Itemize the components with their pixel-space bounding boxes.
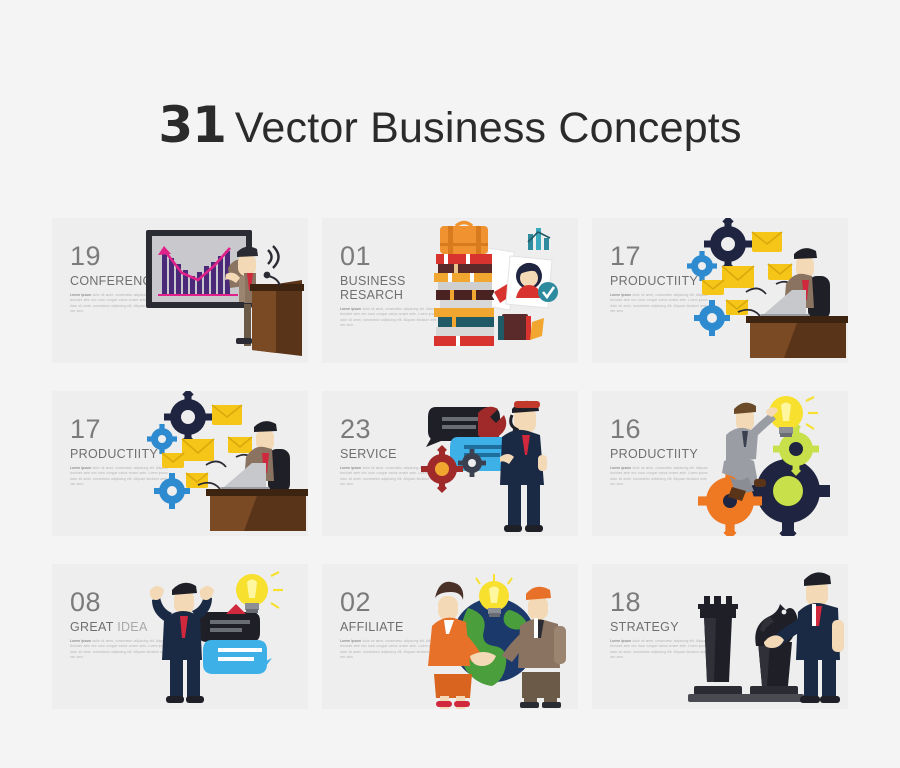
title-text: Vector Business Concepts bbox=[235, 104, 742, 152]
concept-card-service[interactable]: 23 SERVICE Lorem Ipsum dolor sit amet, c… bbox=[322, 391, 578, 536]
poster-page: 31Vector Business Concepts 19 CONFERENCE… bbox=[0, 0, 900, 768]
card-description-lead: Lorem Ipsum bbox=[70, 639, 91, 643]
illustration-conference bbox=[140, 218, 308, 363]
card-label-primary: SERVICE bbox=[340, 447, 397, 461]
concept-card-productivity-desk-b[interactable]: 17 PRODUCTIITY Lorem Ipsum dolor sit ame… bbox=[52, 391, 308, 536]
card-label-secondary: RESARCH bbox=[340, 288, 403, 302]
concept-card-affiliate[interactable]: 02 AFFILIATE Lorem Ipsum dolor sit amet,… bbox=[322, 564, 578, 709]
illustration-gear-climber bbox=[680, 391, 848, 536]
concept-card-strategy[interactable]: 18 STRATEGY Lorem Ipsum dolor sit amet, … bbox=[592, 564, 848, 709]
illustration-support-agent bbox=[410, 391, 578, 536]
concept-card-productivity-desk-a[interactable]: 17 PRODUCTIITY Lorem Ipsum dolor sit ame… bbox=[592, 218, 848, 363]
illustration-desk-worker-b bbox=[140, 391, 308, 536]
card-description-lead: Lorem Ipsum bbox=[610, 639, 631, 643]
card-description-lead: Lorem Ipsum bbox=[70, 293, 91, 297]
card-label-primary: AFFILIATE bbox=[340, 620, 404, 634]
concept-card-great-idea[interactable]: 08 GREAT IDEA Lorem Ipsum dolor sit amet… bbox=[52, 564, 308, 709]
title-count: 31 bbox=[158, 96, 226, 154]
card-label-primary: GREAT bbox=[70, 620, 113, 634]
card-description-lead: Lorem Ipsum bbox=[340, 307, 361, 311]
card-description-lead: Lorem Ipsum bbox=[70, 466, 91, 470]
illustration-idea-man bbox=[140, 564, 308, 709]
illustration-books bbox=[410, 218, 578, 363]
card-description-lead: Lorem Ipsum bbox=[610, 466, 631, 470]
concept-card-productivity-gears[interactable]: 16 PRODUCTIITY Lorem Ipsum dolor sit ame… bbox=[592, 391, 848, 536]
illustration-chess-strategy bbox=[680, 564, 848, 709]
illustration-desk-worker-a bbox=[680, 218, 848, 363]
card-label-primary: BUSINESS bbox=[340, 274, 406, 288]
card-label-primary: STRATEGY bbox=[610, 620, 679, 634]
concept-card-conference[interactable]: 19 CONFERENCE Lorem Ipsum dolor sit amet… bbox=[52, 218, 308, 363]
card-description-lead: Lorem Ipsum bbox=[340, 639, 361, 643]
concept-grid: 19 CONFERENCE Lorem Ipsum dolor sit amet… bbox=[52, 218, 848, 709]
card-description-lead: Lorem Ipsum bbox=[610, 293, 631, 297]
concept-card-business-research[interactable]: 01 BUSINESSRESARCH Lorem Ipsum dolor sit… bbox=[322, 218, 578, 363]
card-description-lead: Lorem Ipsum bbox=[340, 466, 361, 470]
illustration-partnership-globe bbox=[410, 564, 578, 709]
page-title: 31Vector Business Concepts bbox=[0, 96, 900, 154]
